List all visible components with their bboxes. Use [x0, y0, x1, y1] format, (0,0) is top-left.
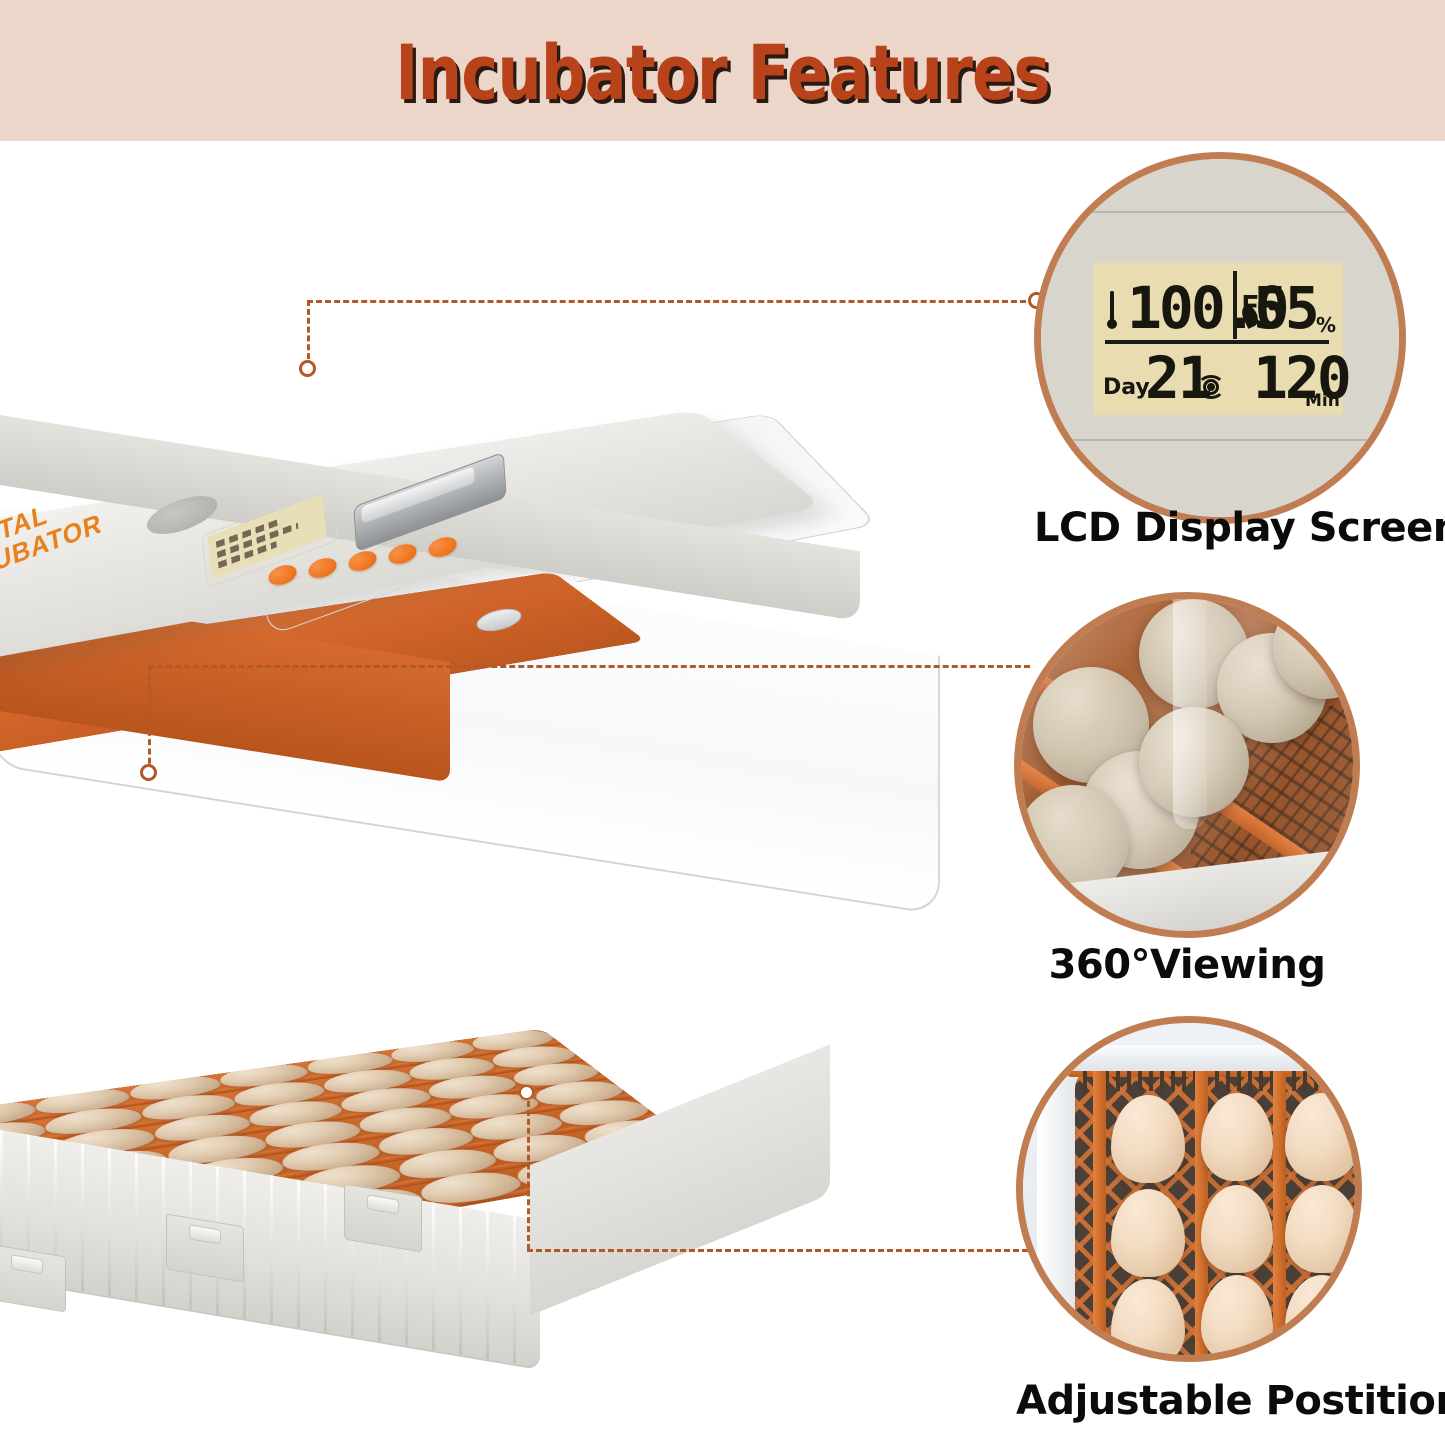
base-rib — [324, 1184, 327, 1333]
adjustable-divider-1 — [1093, 1063, 1106, 1362]
base-rib — [459, 1207, 462, 1356]
lcd-vertical-divider — [1233, 271, 1237, 339]
adjustable-comb-teeth — [1083, 1069, 1362, 1091]
lcd-screen: 100.0 F 55 % Day 21 120 Min — [1093, 263, 1343, 415]
callout-viewing-label: 360°Viewing — [1014, 942, 1360, 988]
connector-lcd-horizontal — [307, 300, 1035, 303]
base-rib — [108, 1148, 111, 1297]
connector-viewing-horizontal — [148, 665, 1030, 668]
base-rib — [162, 1157, 165, 1306]
base-rib — [513, 1216, 516, 1365]
base-rib — [270, 1175, 273, 1324]
connector-viewing-endpoint-product — [140, 764, 157, 781]
lcd-turn-interval-unit: Min — [1305, 391, 1340, 411]
adjustable-divider-3 — [1273, 1063, 1286, 1362]
connector-adjustable-vertical — [527, 1092, 530, 1250]
tray-base — [0, 1110, 870, 1360]
base-rib — [297, 1180, 300, 1329]
connector-adjustable-horizontal — [527, 1249, 1037, 1252]
connector-viewing-vertical — [148, 665, 151, 773]
tray-base-front — [0, 1120, 540, 1370]
header-banner: Incubator Features — [0, 0, 1445, 141]
callout-adjustable-circle — [1016, 1016, 1362, 1362]
callout-lcd-circle: 100.0 F 55 % Day 21 120 Min — [1034, 152, 1406, 524]
page-title: Incubator Features — [130, 28, 1315, 117]
lcd-day-label: Day — [1103, 375, 1150, 400]
infographic-page: Incubator Features DIGITAL INCUBATOR — [0, 0, 1445, 1445]
lcd-humidity-value: 55 — [1253, 279, 1317, 337]
connector-adjustable-endpoint-product — [519, 1085, 534, 1100]
lcd-panel-seam-top — [1041, 211, 1399, 213]
base-rib — [486, 1211, 489, 1360]
viewing-glass-reflection — [1021, 599, 1353, 931]
product-illustration: DIGITAL INCUBATOR — [0, 150, 980, 1440]
callout-lcd-label: LCD Display Screen — [1034, 505, 1406, 551]
egg-tray-assembly — [0, 810, 900, 1330]
egg-turn-rotate-icon — [1197, 375, 1227, 401]
callout-adjustable-label: Adjustable Postition — [1016, 1378, 1362, 1424]
callout-viewing-circle — [1014, 592, 1360, 938]
base-rib — [135, 1152, 138, 1301]
lcd-panel-seam-bottom — [1041, 439, 1399, 441]
adjustable-housing-top — [1063, 1045, 1362, 1071]
base-rib — [81, 1143, 84, 1292]
connector-lcd-vertical — [307, 300, 310, 368]
base-rib — [432, 1202, 435, 1351]
thermometer-icon — [1107, 291, 1117, 335]
connector-lcd-endpoint-product — [299, 360, 316, 377]
lcd-humidity-unit: % — [1316, 313, 1336, 337]
